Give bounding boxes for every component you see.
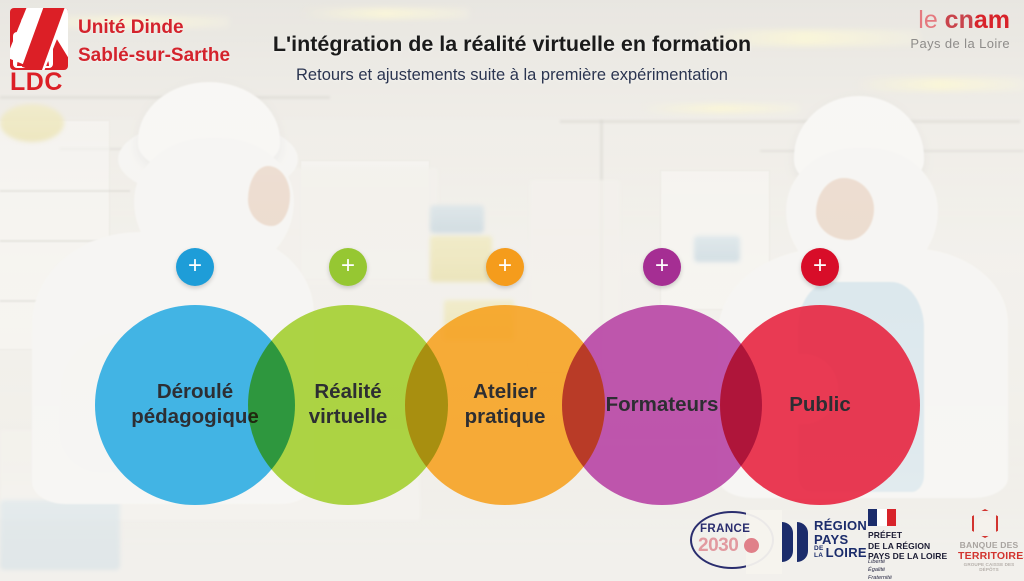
plus-icon: + — [655, 254, 669, 278]
plus-icon: + — [498, 254, 512, 278]
region-line-2: PAYS — [814, 533, 867, 547]
banque-des-territoires-logo: BANQUE DES TERRITOIRES GROUPE CAISSE DES… — [958, 509, 1020, 571]
prefet-logo: PRÉFET DE LA RÉGION PAYS DE LA LOIRE Lib… — [868, 509, 960, 573]
flag-white — [877, 509, 886, 526]
france-2030-name: FRANCE — [700, 523, 750, 535]
plus-button-realite-virtuelle[interactable]: + — [329, 248, 367, 286]
republic-motto: Liberté Égalité Fraternité — [868, 558, 892, 581]
venn-circle-public[interactable]: Public — [720, 305, 920, 505]
banque-line-3: GROUPE CAISSE DES DÉPÔTS — [958, 562, 1020, 572]
flag-blue — [868, 509, 877, 526]
venn-label-deroule-pedagogique: Déroulé pédagogique — [131, 380, 259, 429]
cnam-cn-text: cn — [945, 6, 974, 34]
prefet-line-2: DE LA RÉGION — [868, 541, 947, 552]
title-block: L'intégration de la réalité virtuelle en… — [0, 32, 1024, 85]
region-wordmark: RÉGION PAYS DE LA LOIRE — [814, 519, 867, 560]
motto-fraternite: Fraternité — [868, 574, 892, 581]
region-loire: LOIRE — [826, 546, 867, 560]
plus-icon: + — [813, 254, 827, 278]
cnam-logo: le cnam Pays de la Loire — [910, 8, 1010, 51]
hexagon-inner — [977, 514, 994, 534]
region-la: LA — [814, 553, 824, 560]
cnam-wordmark: le cnam — [910, 8, 1010, 33]
motto-egalite: Égalité — [868, 566, 892, 574]
cnam-am-text: am — [974, 6, 1010, 34]
slide-header: LDC Unité Dinde Sablé-sur-Sarthe L'intég… — [0, 0, 1024, 110]
venn-label-atelier-pratique: Atelier pratique — [465, 380, 546, 429]
region-chevron-2 — [797, 522, 808, 562]
venn-label-public: Public — [789, 393, 851, 418]
france-2030-logo: FRANCE 2030 — [686, 509, 778, 571]
page-subtitle: Retours et ajustements suite à la premiè… — [0, 66, 1024, 85]
france-2030-dot — [744, 538, 759, 553]
plus-button-deroule-pedagogique[interactable]: + — [176, 248, 214, 286]
motto-liberte: Liberté — [868, 558, 892, 566]
plus-button-atelier-pratique[interactable]: + — [486, 248, 524, 286]
region-line-3: DE LA LOIRE — [814, 546, 867, 560]
french-flag-icon — [868, 509, 896, 526]
banque-line-2: TERRITOIRES — [958, 550, 1020, 562]
france-2030-year: 2030 — [698, 535, 738, 557]
flag-red — [887, 509, 896, 526]
plus-button-formateurs[interactable]: + — [643, 248, 681, 286]
venn-label-formateurs: Formateurs — [606, 393, 719, 418]
slide-canvas: LDC Unité Dinde Sablé-sur-Sarthe L'intég… — [0, 0, 1024, 581]
plus-icon: + — [188, 254, 202, 278]
cnam-le-text: le — [918, 6, 944, 34]
page-title: L'intégration de la réalité virtuelle en… — [0, 32, 1024, 57]
region-pays-de-la-loire-logo: RÉGION PAYS DE LA LOIRE — [782, 517, 860, 567]
region-chevron-1 — [782, 522, 793, 562]
footer-logo-bar: FRANCE 2030 RÉGION PAYS DE LA LOIRE — [0, 505, 1024, 581]
plus-icon: + — [341, 254, 355, 278]
banque-line-1: BANQUE DES — [958, 540, 1020, 550]
hexagon-icon — [972, 509, 998, 538]
venn-label-realite-virtuelle: Réalité virtuelle — [309, 380, 388, 429]
region-chevron-icon — [782, 522, 808, 562]
plus-button-public[interactable]: + — [801, 248, 839, 286]
region-line-3-prefix: DE LA — [814, 546, 824, 560]
prefet-line-1: PRÉFET — [868, 530, 947, 541]
cnam-region-text: Pays de la Loire — [910, 36, 1010, 51]
region-line-1: RÉGION — [814, 519, 867, 533]
